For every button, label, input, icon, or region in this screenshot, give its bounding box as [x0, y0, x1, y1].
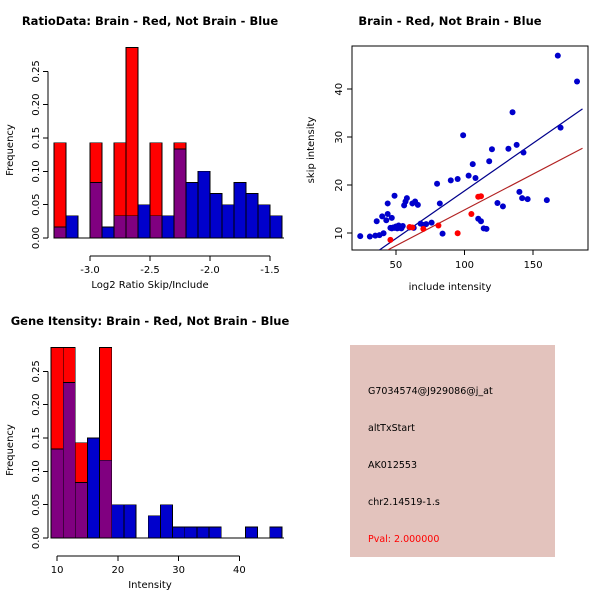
gene-histogram-svg: Gene Itensity: Brain - Red, Not Brain - … [0, 300, 300, 600]
scatter-point-not-brain [415, 202, 421, 208]
histogram-bar-brain [63, 348, 75, 383]
gene-histogram-plot-area: 0.000.050.100.150.200.2510203040 [31, 348, 284, 576]
scatter-point-not-brain [437, 200, 443, 206]
ratio-histogram-ylabel: Frequency [5, 124, 16, 176]
x-tick-label: -3.0 [80, 265, 100, 276]
histogram-bar-not-brain [210, 194, 222, 238]
y-tick-label: 40 [334, 83, 345, 96]
histogram-bar-not-brain [197, 527, 209, 538]
gene-histogram-ylabel: Frequency [5, 424, 16, 476]
panel-intensity-scatter: Brain - Red, Not Brain - Blue include in… [300, 0, 600, 300]
histogram-bar-not-brain [112, 505, 124, 538]
histogram-bar-overlap [90, 182, 102, 238]
histogram-bar-overlap [114, 216, 126, 238]
x-tick-label: 20 [112, 565, 125, 576]
y-tick-label: 0.05 [31, 194, 42, 216]
histogram-bar-not-brain [102, 227, 114, 238]
histogram-bar-overlap [54, 227, 66, 238]
scatter-point-not-brain [374, 218, 380, 224]
histogram-bar-overlap [126, 216, 138, 238]
ratio-histogram-xlabel: Log2 Ratio Skip/Include [91, 280, 208, 291]
histogram-bar-brain [54, 143, 66, 227]
y-tick-label: 10 [334, 227, 345, 240]
histogram-bar-brain [90, 143, 102, 183]
scatter-point-not-brain [478, 218, 484, 224]
x-tick-label: 30 [172, 565, 185, 576]
scatter-point-not-brain [367, 234, 373, 240]
scatter-inner [357, 53, 582, 250]
scatter-point-not-brain [500, 203, 506, 209]
x-tick-label: 10 [51, 565, 64, 576]
histogram-bar-not-brain [234, 182, 246, 238]
scatter-point-not-brain [385, 200, 391, 206]
scatter-point-not-brain [544, 197, 550, 203]
scatter-point-brain [420, 226, 426, 232]
histogram-bar-not-brain [87, 438, 99, 538]
scatter-point-not-brain [381, 230, 387, 236]
histogram-bar-overlap [51, 449, 63, 538]
scatter-point-not-brain [392, 193, 398, 199]
scatter-point-not-brain [519, 195, 525, 201]
scatter-point-not-brain [516, 189, 522, 195]
histogram-bar-overlap [100, 460, 112, 538]
y-tick-label: 0.15 [31, 127, 42, 149]
scatter-point-not-brain [470, 161, 476, 167]
histogram-bar-not-brain [66, 216, 78, 238]
ratio-histogram-plot-area: 0.000.050.100.150.200.25-3.0-2.5-2.0-1.5 [31, 48, 284, 276]
scatter-point-not-brain [486, 158, 492, 164]
scatter-title: Brain - Red, Not Brain - Blue [358, 14, 541, 28]
histogram-bar-brain [126, 48, 138, 216]
histogram-bar-brain [114, 143, 126, 216]
info-panel-text-block: G7034574@J929086@j_at altTxStart AK01255… [350, 345, 555, 557]
info-probeset-id: G7034574@J929086@j_at [368, 386, 493, 397]
scatter-point-brain [409, 224, 415, 230]
ratio-histogram-title: RatioData: Brain - Red, Not Brain - Blue [22, 14, 279, 28]
scatter-point-brain [478, 193, 484, 199]
info-pval: Pval: 2.000000 [368, 534, 439, 545]
histogram-bar-not-brain [148, 516, 160, 538]
histogram-bar-brain [100, 348, 112, 461]
histogram-bars [51, 348, 282, 538]
scatter-point-brain [455, 230, 461, 236]
x-tick-label: -1.5 [260, 265, 280, 276]
histogram-bar-not-brain [198, 171, 210, 238]
histogram-bar-not-brain [160, 505, 172, 538]
scatter-point-not-brain [555, 53, 561, 59]
scatter-point-not-brain [483, 226, 489, 232]
histogram-bar-not-brain [258, 205, 270, 238]
histogram-bar-not-brain [173, 527, 185, 538]
panel-ratio-histogram: RatioData: Brain - Red, Not Brain - Blue… [0, 0, 300, 300]
histogram-bar-overlap [174, 149, 186, 238]
histogram-bar-overlap [75, 482, 87, 538]
ratio-histogram-svg: RatioData: Brain - Red, Not Brain - Blue… [0, 0, 300, 300]
histogram-bar-not-brain [270, 527, 282, 538]
x-tick-label: -2.0 [200, 265, 220, 276]
y-tick-label: 0.00 [31, 227, 42, 249]
scatter-point-not-brain [489, 146, 495, 152]
panel-gene-info: G7034574@J929086@j_at altTxStart AK01255… [300, 300, 600, 600]
info-locus: chr2.14519-1.s [368, 497, 440, 508]
scatter-point-not-brain [455, 176, 461, 182]
scatter-point-not-brain [448, 177, 454, 183]
y-tick-label: 0.20 [31, 94, 42, 116]
y-tick-label: 0.10 [31, 160, 42, 182]
scatter-plot-area: 1020304050100150 [334, 46, 588, 271]
scatter-xlabel: include intensity [409, 282, 492, 293]
x-tick-label: 40 [233, 565, 246, 576]
gene-histogram-title: Gene Itensity: Brain - Red, Not Brain - … [11, 314, 290, 328]
scatter-point-not-brain [429, 220, 435, 226]
x-tick-label: 50 [390, 260, 403, 271]
histogram-bar-not-brain [209, 527, 221, 538]
y-tick-label: 0.05 [31, 494, 42, 516]
scatter-point-not-brain [510, 109, 516, 115]
histogram-bar-brain [51, 348, 63, 450]
histogram-bar-not-brain [162, 216, 174, 238]
scatter-point-not-brain [494, 200, 500, 206]
scatter-ylabel: skip intensity [306, 117, 317, 184]
info-event-type: altTxStart [368, 423, 415, 434]
y-tick-label: 0.25 [31, 60, 42, 82]
histogram-bar-brain [150, 143, 162, 216]
histogram-bars [54, 48, 282, 238]
histogram-bar-brain [174, 143, 186, 149]
scatter-point-brain [468, 211, 474, 217]
y-tick-label: 0.20 [31, 394, 42, 416]
scatter-point-not-brain [472, 175, 478, 181]
intensity-scatter-svg: Brain - Red, Not Brain - Blue include in… [300, 0, 600, 300]
histogram-bar-not-brain [246, 194, 258, 238]
figure-canvas: RatioData: Brain - Red, Not Brain - Blue… [0, 0, 600, 600]
scatter-point-not-brain [514, 142, 520, 148]
histogram-bar-not-brain [185, 527, 197, 538]
info-accession: AK012553 [368, 460, 417, 471]
x-tick-label: 150 [524, 260, 543, 271]
scatter-point-not-brain [383, 217, 389, 223]
histogram-bar-brain [75, 443, 87, 483]
histogram-bar-not-brain [138, 205, 150, 238]
panel-gene-intensity-histogram: Gene Itensity: Brain - Red, Not Brain - … [0, 300, 300, 600]
scatter-point-not-brain [574, 79, 580, 85]
y-tick-label: 0.00 [31, 527, 42, 549]
histogram-bar-overlap [150, 216, 162, 238]
scatter-point-brain [387, 237, 393, 243]
x-tick-label: 100 [455, 260, 474, 271]
y-tick-label: 0.10 [31, 460, 42, 482]
scatter-point-not-brain [357, 233, 363, 239]
scatter-point-not-brain [389, 215, 395, 221]
scatter-point-not-brain [466, 173, 472, 179]
histogram-bar-overlap [63, 382, 75, 538]
scatter-point-not-brain [525, 196, 531, 202]
histogram-bar-not-brain [222, 205, 234, 238]
histogram-bar-not-brain [245, 527, 257, 538]
scatter-point-brain [435, 223, 441, 229]
scatter-point-not-brain [505, 146, 511, 152]
scatter-point-not-brain [460, 132, 466, 138]
scatter-point-not-brain [521, 150, 527, 156]
scatter-point-not-brain [558, 125, 564, 131]
scatter-point-not-brain [404, 195, 410, 201]
scatter-point-not-brain [440, 231, 446, 237]
scatter-point-not-brain [400, 223, 406, 229]
y-tick-label: 30 [334, 131, 345, 144]
x-tick-label: -2.5 [140, 265, 160, 276]
histogram-bar-not-brain [186, 182, 198, 238]
y-tick-label: 0.15 [31, 427, 42, 449]
gene-histogram-xlabel: Intensity [128, 580, 172, 591]
histogram-bar-not-brain [124, 505, 136, 538]
scatter-point-not-brain [434, 181, 440, 187]
histogram-bar-not-brain [270, 216, 282, 238]
y-tick-label: 20 [334, 179, 345, 192]
y-tick-label: 0.25 [31, 360, 42, 382]
